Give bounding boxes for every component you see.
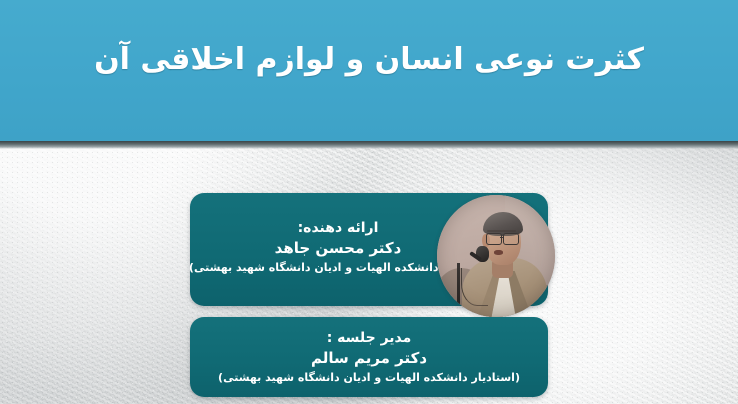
page-title: کثرت نوعی انسان و لوازم اخلاقی آن	[0, 38, 738, 82]
moderator-affiliation: (استادیار دانشکده الهیات و ادیان دانشگاه…	[218, 369, 520, 386]
speaker-photo	[437, 195, 555, 317]
moderator-text-block: مدیر جلسه : دکتر مریم سالم (استادیار دان…	[190, 317, 548, 397]
moderator-name: دکتر مریم سالم	[311, 348, 427, 369]
header-drop-shadow	[0, 141, 738, 149]
moderator-card: مدیر جلسه : دکتر مریم سالم (استادیار دان…	[190, 317, 548, 397]
moderator-role-label: مدیر جلسه :	[327, 329, 412, 348]
photo-vignette	[437, 195, 555, 317]
presenter-name: دکتر محسن جاهد	[275, 238, 402, 259]
presenter-role-label: ارائه دهنده:	[298, 219, 379, 238]
event-poster: کثرت نوعی انسان و لوازم اخلاقی آن ارائه …	[0, 0, 738, 404]
